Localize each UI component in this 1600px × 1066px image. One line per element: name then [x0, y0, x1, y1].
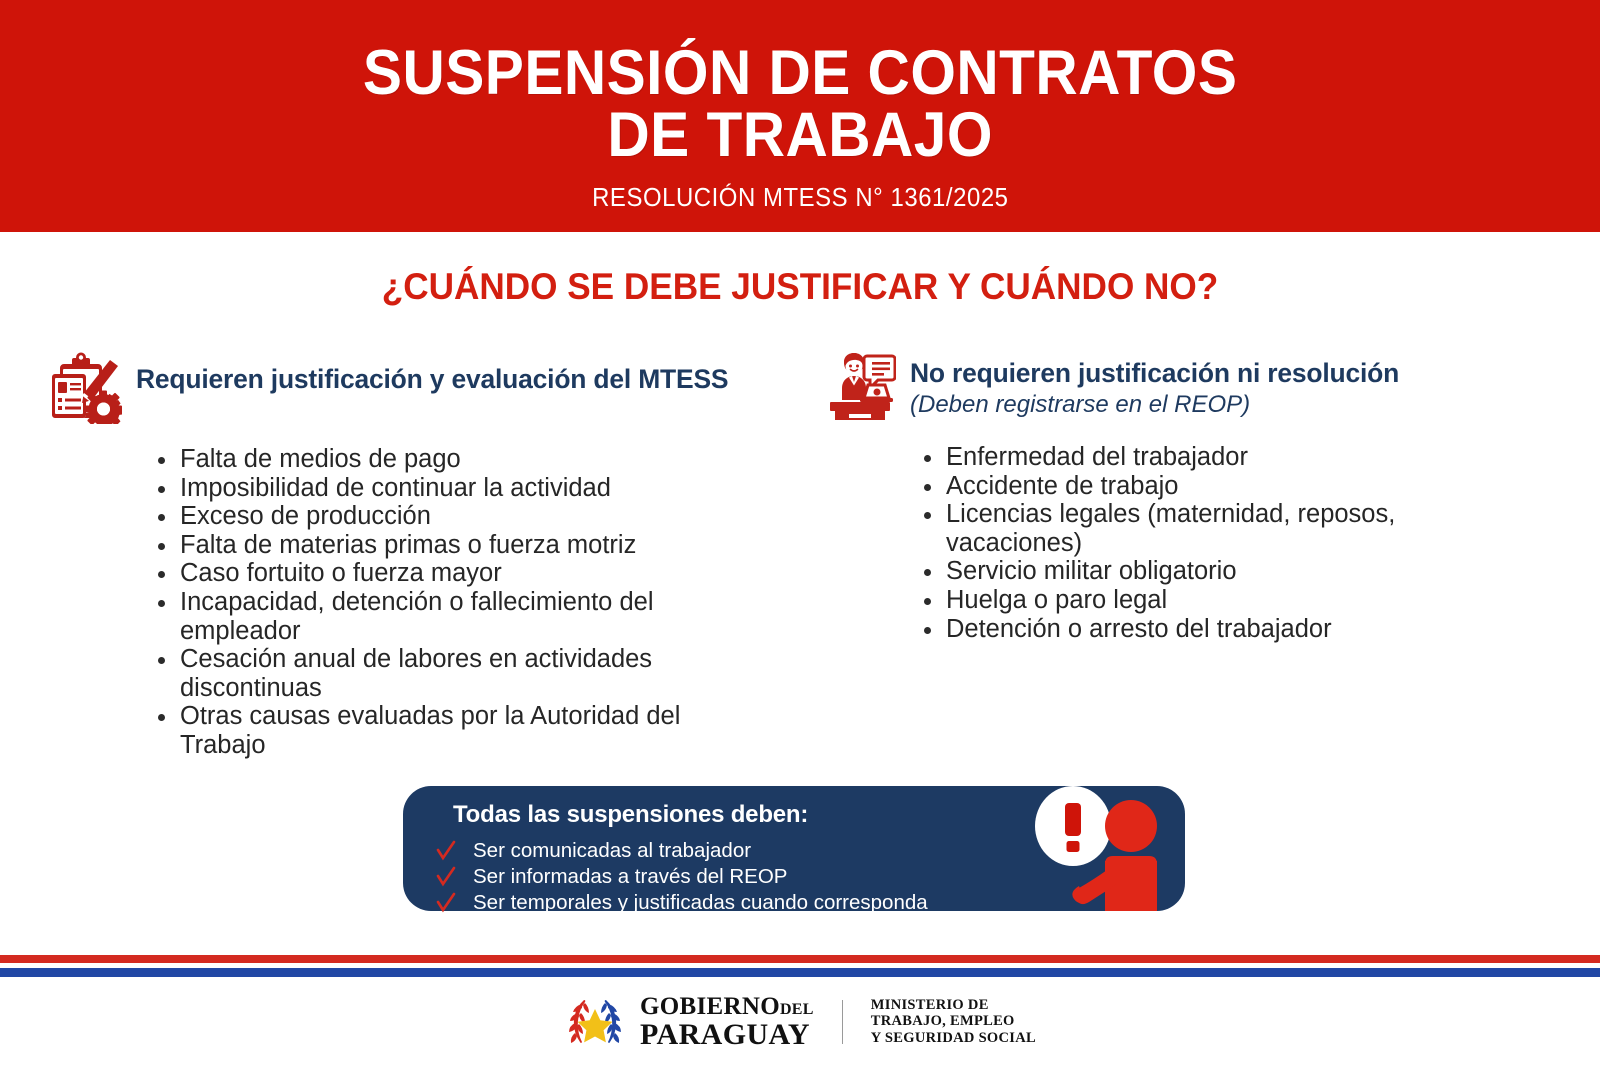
- list-item: Servicio militar obligatorio: [920, 557, 1410, 586]
- ministry-line1: MINISTERIO DE: [871, 997, 1036, 1014]
- list-item: Licencias legales (maternidad, reposos, …: [920, 500, 1410, 557]
- page-title: SUSPENSIÓN DE CONTRATOS DE TRABAJO: [363, 42, 1237, 166]
- gov-line2: PARAGUAY: [640, 1020, 814, 1050]
- callout-item-label: Ser comunicadas al trabajador: [473, 839, 751, 862]
- page-title-line2: DE TRABAJO: [363, 104, 1237, 166]
- page-subtitle: RESOLUCIÓN MTESS N° 1361/2025: [592, 182, 1008, 213]
- list-item: Huelga o paro legal: [920, 586, 1410, 615]
- person-desk-laptop-icon: [822, 352, 896, 427]
- list-item: Incapacidad, detención o fallecimiento d…: [154, 588, 684, 645]
- government-wordmark: GOBIERNODEL PARAGUAY: [640, 994, 814, 1050]
- callout-list-item: Ser temporales y justificadas cuando cor…: [435, 890, 928, 916]
- list-item: Falta de medios de pago: [154, 445, 684, 474]
- column-right-subtitle: (Deben registrarse en el REOP): [910, 391, 1409, 419]
- ministry-wordmark: MINISTERIO DE TRABAJO, EMPLEO Y SEGURIDA…: [871, 997, 1036, 1047]
- callout-list: Ser comunicadas al trabajador Ser inform…: [435, 838, 928, 916]
- person-exclamation-icon: [1021, 786, 1171, 911]
- list-item: Enfermedad del trabajador: [920, 443, 1410, 472]
- flag-stripe-blue: [0, 968, 1600, 977]
- list-no-justification: Enfermedad del trabajador Accidente de t…: [822, 443, 1562, 643]
- list-item: Caso fortuito o fuerza mayor: [154, 559, 684, 588]
- check-icon: [435, 892, 457, 914]
- list-item: Exceso de producción: [154, 502, 684, 531]
- column-left-header: Requieren justificación y evaluación del…: [44, 352, 804, 429]
- column-no-justification: No requieren justificación ni resolución…: [822, 352, 1562, 643]
- check-icon: [435, 840, 457, 862]
- list-item: Imposibilidad de continuar la actividad: [154, 474, 684, 503]
- gov-line1-main: GOBIERNO: [640, 993, 780, 1020]
- callout-list-item: Ser comunicadas al trabajador: [435, 838, 928, 864]
- ministry-line3: Y SEGURIDAD SOCIAL: [871, 1030, 1036, 1047]
- flag-stripe-red: [0, 955, 1600, 963]
- column-requires-justification: Requieren justificación y evaluación del…: [44, 352, 804, 760]
- footer-divider: [842, 1000, 843, 1044]
- list-item: Otras causas evaluadas por la Autoridad …: [154, 702, 684, 759]
- callout-item-label: Ser temporales y justificadas cuando cor…: [473, 891, 928, 914]
- list-item: Accidente de trabajo: [920, 472, 1410, 501]
- list-item: Cesación anual de labores en actividades…: [154, 645, 684, 702]
- header-banner: SUSPENSIÓN DE CONTRATOS DE TRABAJO RESOL…: [0, 0, 1600, 232]
- list-item: Detención o arresto del trabajador: [920, 615, 1410, 644]
- ministry-line2: TRABAJO, EMPLEO: [871, 1013, 1036, 1030]
- clipboard-pencil-gear-icon: [44, 352, 122, 429]
- page-title-line1: SUSPENSIÓN DE CONTRATOS: [363, 42, 1237, 104]
- callout-item-label: Ser informadas a través del REOP: [473, 865, 787, 888]
- column-right-header: No requieren justificación ni resolución…: [822, 352, 1562, 427]
- section-question: ¿CUÁNDO SE DEBE JUSTIFICAR Y CUÁNDO NO?: [40, 266, 1560, 308]
- paraguay-star-laurel-emblem: [564, 992, 626, 1051]
- list-requires-justification: Falta de medios de pago Imposibilidad de…: [44, 445, 804, 760]
- footer: GOBIERNODEL PARAGUAY MINISTERIO DE TRABA…: [0, 977, 1600, 1066]
- column-left-title: Requieren justificación y evaluación del…: [136, 364, 728, 395]
- callout-box: Todas las suspensiones deben: Ser comuni…: [403, 786, 1185, 911]
- check-icon: [435, 866, 457, 888]
- list-item: Falta de materias primas o fuerza motriz: [154, 531, 684, 560]
- column-right-title: No requieren justificación ni resolución: [910, 358, 1399, 389]
- gov-line1-small: DEL: [780, 1001, 814, 1018]
- callout-title: Todas las suspensiones deben:: [453, 801, 808, 829]
- callout-list-item: Ser informadas a través del REOP: [435, 864, 928, 890]
